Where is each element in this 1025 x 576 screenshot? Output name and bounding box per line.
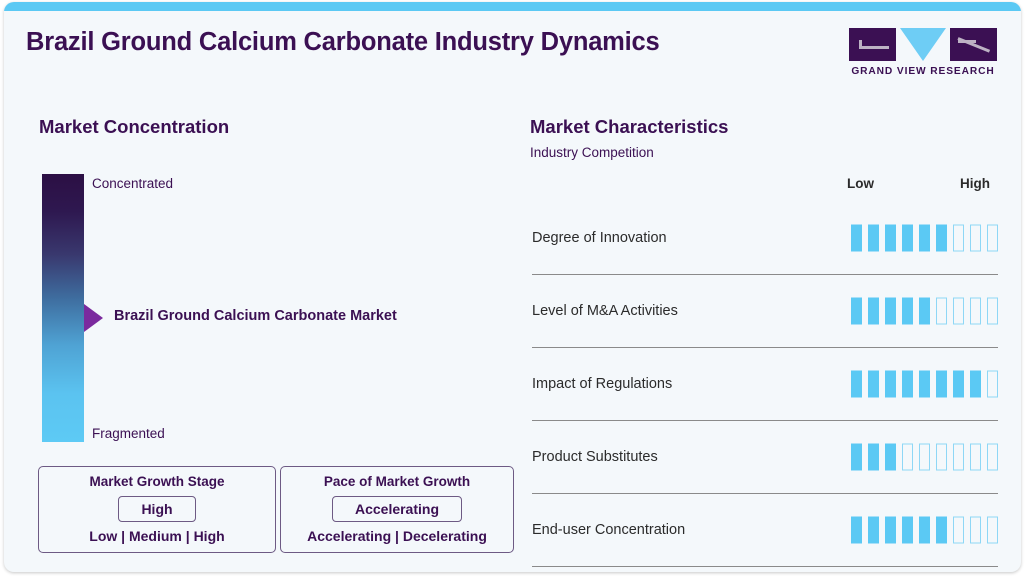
market-growth-stage-heading: Market Growth Stage <box>89 474 224 489</box>
characteristic-row: Level of M&A Activities <box>532 275 998 348</box>
rating-tick-filled <box>902 225 913 252</box>
characteristic-label: End-user Concentration <box>532 522 685 538</box>
rating-tick-filled <box>868 517 879 544</box>
rating-tick-filled <box>868 298 879 325</box>
market-concentration-title: Market Concentration <box>39 116 229 138</box>
rating-tick-empty <box>970 298 981 325</box>
market-characteristics-subtitle: Industry Competition <box>530 145 654 160</box>
logo-marks <box>849 28 997 61</box>
characteristic-label: Product Substitutes <box>532 449 658 465</box>
rating-tick-empty <box>953 444 964 471</box>
characteristic-row: End-user Concentration <box>532 494 998 567</box>
logo-wordmark: GRAND VIEW RESEARCH <box>849 66 997 77</box>
market-position-arrow-icon <box>84 304 103 332</box>
top-accent-bar <box>4 2 1021 11</box>
rating-tick-empty <box>987 371 998 398</box>
rating-tick-empty <box>987 298 998 325</box>
rating-tick-empty <box>953 225 964 252</box>
rating-tick-empty <box>987 444 998 471</box>
concentration-top-label: Concentrated <box>92 176 173 191</box>
characteristic-rating-bars <box>851 517 998 544</box>
rating-tick-filled <box>868 371 879 398</box>
characteristic-row: Impact of Regulations <box>532 348 998 421</box>
rating-tick-filled <box>919 517 930 544</box>
rating-tick-filled <box>885 298 896 325</box>
market-growth-stage-scale: Low | Medium | High <box>89 528 224 544</box>
rating-tick-empty <box>936 444 947 471</box>
logo-square-right-icon <box>950 28 997 61</box>
pace-of-market-growth-value: Accelerating <box>332 496 462 522</box>
concentration-gradient-bar <box>42 174 84 442</box>
characteristic-row: Degree of Innovation <box>532 202 998 275</box>
rating-tick-empty <box>953 298 964 325</box>
rating-tick-empty <box>970 225 981 252</box>
rating-tick-filled <box>885 371 896 398</box>
rating-tick-empty <box>902 444 913 471</box>
rating-tick-empty <box>970 444 981 471</box>
rating-tick-filled <box>953 371 964 398</box>
axis-label-high: High <box>960 176 990 191</box>
rating-tick-filled <box>936 225 947 252</box>
logo-square-left-icon <box>849 28 896 61</box>
characteristic-label: Impact of Regulations <box>532 376 672 392</box>
rating-tick-filled <box>851 444 862 471</box>
characteristic-rating-bars <box>851 444 998 471</box>
rating-tick-filled <box>868 225 879 252</box>
rating-tick-filled <box>868 444 879 471</box>
rating-tick-empty <box>919 444 930 471</box>
rating-tick-filled <box>851 225 862 252</box>
characteristic-label: Level of M&A Activities <box>532 303 678 319</box>
market-growth-stage-value: High <box>118 496 195 522</box>
rating-tick-filled <box>970 371 981 398</box>
rating-tick-filled <box>902 298 913 325</box>
rating-tick-filled <box>885 225 896 252</box>
logo-triangle-icon <box>900 28 946 61</box>
concentration-bottom-label: Fragmented <box>92 426 165 441</box>
rating-tick-filled <box>936 371 947 398</box>
market-characteristics-title: Market Characteristics <box>530 116 728 138</box>
page-title: Brazil Ground Calcium Carbonate Industry… <box>26 28 660 57</box>
pace-of-market-growth-box: Pace of Market Growth Accelerating Accel… <box>280 466 514 553</box>
rating-tick-filled <box>919 298 930 325</box>
rating-tick-filled <box>902 517 913 544</box>
characteristics-list: Degree of InnovationLevel of M&A Activit… <box>532 202 998 567</box>
rating-tick-empty <box>953 517 964 544</box>
rating-tick-empty <box>987 517 998 544</box>
pace-of-market-growth-scale: Accelerating | Decelerating <box>307 528 487 544</box>
rating-tick-empty <box>987 225 998 252</box>
rating-tick-filled <box>936 517 947 544</box>
rating-tick-filled <box>851 298 862 325</box>
rating-tick-filled <box>851 371 862 398</box>
rating-tick-filled <box>885 444 896 471</box>
rating-tick-empty <box>936 298 947 325</box>
market-position-label: Brazil Ground Calcium Carbonate Market <box>114 308 397 324</box>
rating-tick-filled <box>919 371 930 398</box>
characteristic-rating-bars <box>851 371 998 398</box>
rating-tick-filled <box>919 225 930 252</box>
rating-tick-filled <box>902 371 913 398</box>
rating-tick-filled <box>885 517 896 544</box>
characteristic-rating-bars <box>851 225 998 252</box>
infographic-card: Brazil Ground Calcium Carbonate Industry… <box>4 2 1021 572</box>
characteristic-row: Product Substitutes <box>532 421 998 494</box>
rating-tick-empty <box>970 517 981 544</box>
market-growth-stage-box: Market Growth Stage High Low | Medium | … <box>38 466 276 553</box>
grand-view-research-logo: GRAND VIEW RESEARCH <box>849 28 997 77</box>
axis-label-low: Low <box>847 176 874 191</box>
characteristic-rating-bars <box>851 298 998 325</box>
characteristic-label: Degree of Innovation <box>532 230 667 246</box>
rating-tick-filled <box>851 517 862 544</box>
pace-of-market-growth-heading: Pace of Market Growth <box>324 474 470 489</box>
